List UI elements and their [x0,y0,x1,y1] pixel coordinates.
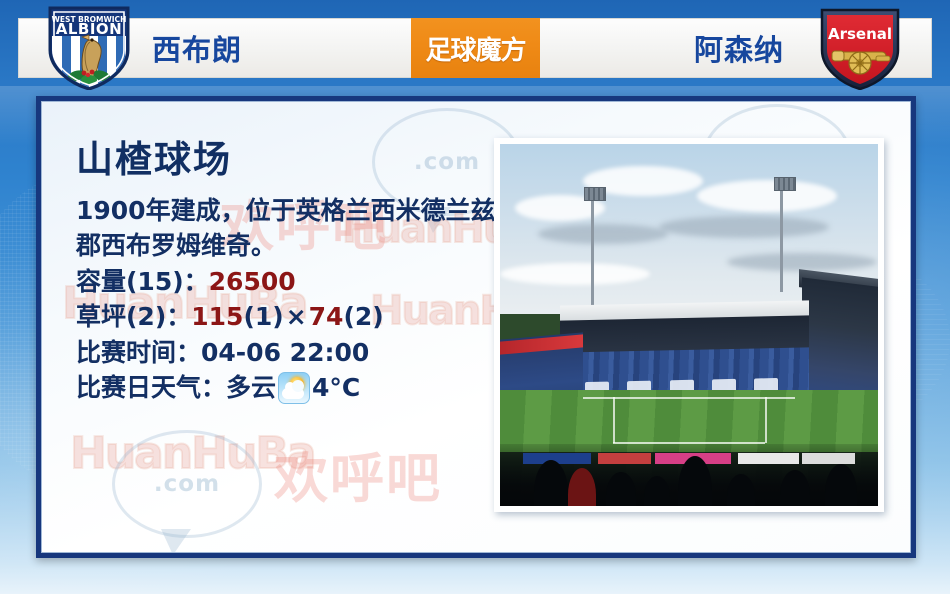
content-panel: .com .com HuanHuBa HuanHuBa HuanHuBa Hua… [36,96,916,558]
floodlight-left-mast [591,195,594,311]
sun-behind-cloud-icon [278,372,310,404]
floodlight-right-head [774,177,796,191]
capacity-row: 容量(15)：26500 [76,264,506,300]
stadium-title: 山楂球场 [76,140,506,181]
pitch-width-rank: (2) [343,302,383,331]
weather-temperature: 4°C [312,370,360,406]
watermark-cn-2: 欢呼吧 [274,434,442,513]
match-time-label: 比赛时间： [76,338,201,367]
pitch-length-rank: (1) [243,302,283,331]
weather-row: 比赛日天气：多云 4°C [76,370,506,406]
watermark-huanhuba-4: HuanHuBa [70,428,315,479]
capacity-value: 26500 [209,267,296,296]
weather-condition: 多云 [226,370,276,406]
match-info-card: WEST BROMWICH ALBION 西布朗 足球魔方 阿森纳 [0,0,950,594]
pitch-width: 74 [309,302,344,331]
stadium-info: 山楂球场 1900年建成，位于英格兰西米德兰兹郡西布罗姆维奇。 容量(15)：2… [76,140,506,406]
stadium-description: 1900年建成，位于英格兰西米德兰兹郡西布罗姆维奇。 [76,193,506,264]
weather-label: 比赛日天气： [76,370,226,406]
home-crest-line2: ALBION [56,20,123,38]
pitch-length: 115 [191,302,243,331]
match-time-value: 04-06 22:00 [201,338,369,367]
home-team-name: 西布朗 [152,27,242,69]
away-crest-text: Arsenal [828,25,892,43]
floodlight-right-mast [780,184,783,293]
pitch-label: 草坪(2)： [76,302,191,331]
stadium-photo-frame [494,138,884,512]
site-logo-text: 足球魔方 [425,30,525,67]
watermark-bubble-bottom: .com [112,430,262,538]
floodlight-left-head [584,187,606,201]
pitch-row: 草坪(2)：115(1)×74(2) [76,299,506,335]
cloud-icon-part [282,388,304,399]
content-panel-inner: .com .com HuanHuBa HuanHuBa HuanHuBa Hua… [41,101,911,553]
away-team-crest: Arsenal [818,6,902,90]
capacity-label: 容量(15)： [76,267,209,296]
stadium-photo [500,144,878,506]
advertising-board-2 [598,453,651,465]
advertising-board-4 [738,453,798,465]
match-time-row: 比赛时间：04-06 22:00 [76,335,506,371]
spectator-silhouette [644,476,670,506]
advertising-board-5 [802,453,855,465]
home-team-crest: WEST BROMWICH ALBION [46,6,132,90]
pitch-dimension-separator: × [284,302,309,331]
site-logo[interactable]: 足球魔方 [411,18,540,78]
away-team-name: 阿森纳 [694,27,784,69]
watermark-bubble-text-3: .com [154,471,220,497]
